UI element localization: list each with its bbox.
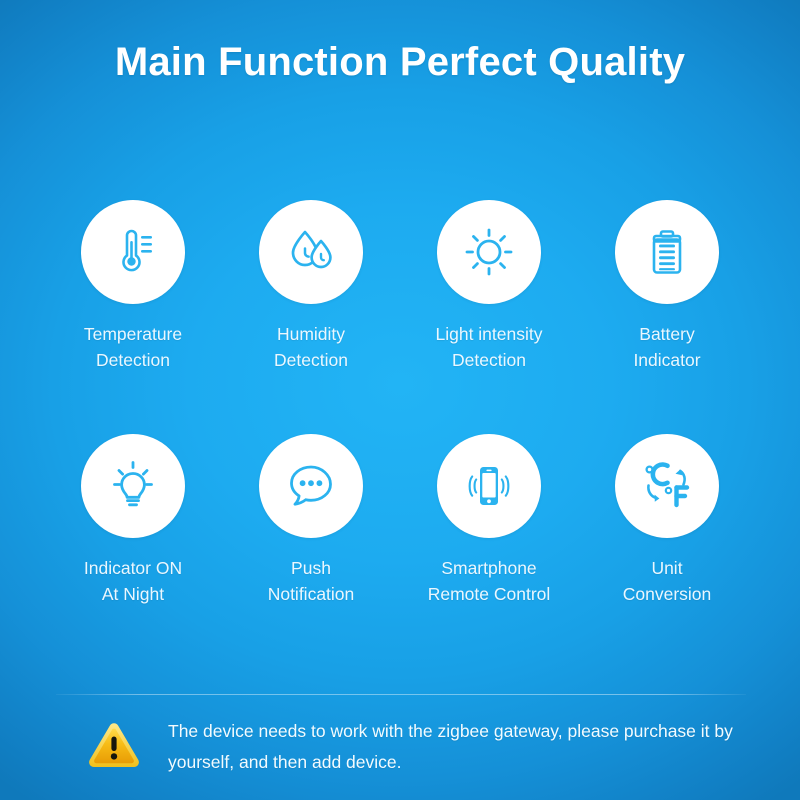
- icon-circle: [437, 434, 541, 538]
- lightbulb-icon: [104, 457, 162, 515]
- feature-label: Humidity Detection: [274, 322, 348, 373]
- icon-circle: [259, 434, 363, 538]
- gateway-note-text: The device needs to work with the zigbee…: [168, 716, 746, 778]
- battery-icon: [640, 225, 694, 279]
- feature-label: Indicator ON At Night: [84, 556, 182, 607]
- feature-label: Light intensity Detection: [435, 322, 542, 373]
- icon-circle: [437, 200, 541, 304]
- water-drops-icon: [282, 223, 340, 281]
- feature-label: Smartphone Remote Control: [428, 556, 551, 607]
- feature-label: Battery Indicator: [633, 322, 700, 373]
- speech-bubble-icon: [282, 457, 340, 515]
- feature-item-indicator-on-at-night: Indicator ON At Night: [44, 434, 222, 607]
- icon-circle: [259, 200, 363, 304]
- section-divider: [56, 694, 746, 695]
- warning-triangle-icon: [86, 720, 142, 775]
- feature-label: Push Notification: [268, 556, 355, 607]
- feature-item-push-notification: Push Notification: [222, 434, 400, 607]
- feature-grid-row-1: Temperature Detection Humidity Detection: [44, 200, 756, 373]
- icon-circle: [615, 200, 719, 304]
- feature-highlight-page: Main Function Perfect Quality Temperatur…: [0, 0, 800, 800]
- page-title: Main Function Perfect Quality: [0, 38, 800, 86]
- icon-circle: [81, 434, 185, 538]
- feature-label: Temperature Detection: [84, 322, 182, 373]
- feature-label: Unit Conversion: [623, 556, 712, 607]
- feature-item-humidity-detection: Humidity Detection: [222, 200, 400, 373]
- icon-circle: [81, 200, 185, 304]
- smartphone-vibrate-icon: [460, 457, 518, 515]
- gateway-note: The device needs to work with the zigbee…: [86, 716, 746, 778]
- feature-item-light-intensity-detection: Light intensity Detection: [400, 200, 578, 373]
- feature-item-unit-conversion: Unit Conversion: [578, 434, 756, 607]
- feature-item-battery-indicator: Battery Indicator: [578, 200, 756, 373]
- feature-grid-row-2: Indicator ON At Night Push Notification: [44, 434, 756, 607]
- feature-item-smartphone-remote-control: Smartphone Remote Control: [400, 434, 578, 607]
- sun-icon: [460, 223, 518, 281]
- icon-circle: [615, 434, 719, 538]
- thermometer-icon: [105, 224, 161, 280]
- celsius-fahrenheit-icon: [636, 455, 698, 517]
- feature-item-temperature-detection: Temperature Detection: [44, 200, 222, 373]
